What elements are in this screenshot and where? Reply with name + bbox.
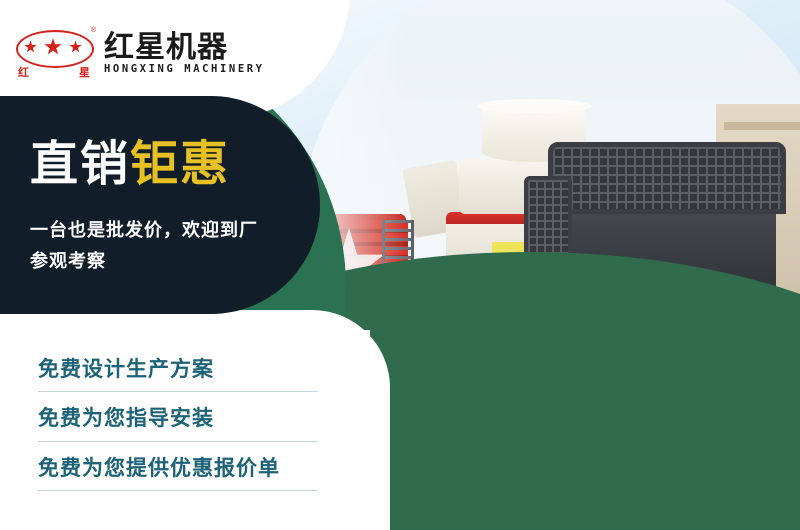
list-item[interactable]: 免费为您提供优惠报价单 [38,451,318,491]
logo-stars [24,36,82,58]
star-icon [24,41,37,54]
brand-logo[interactable]: ® 红 星 红星机器 HONGXING MACHINERY [16,28,265,80]
headline-highlight: 钜惠 [130,136,230,192]
star-icon [44,38,62,56]
subtitle-line-1: 一台也是批发价，欢迎到厂 [30,216,320,247]
brand-name-en: HONGXING MACHINERY [104,64,265,75]
logo-char-xing: 星 [79,64,90,80]
star-icon [69,41,82,54]
subtitle: 一台也是批发价，欢迎到厂 参观考察 [30,216,320,278]
logo-subchars: 红 星 [18,64,90,80]
brand-wordmark: 红星机器 HONGXING MACHINERY [104,33,265,75]
list-item[interactable]: 免费设计生产方案 [38,352,318,392]
brand-name-cn: 红星机器 [104,33,265,63]
platform-railing [548,142,786,214]
list-item[interactable]: 免费为您指导安装 [38,401,318,441]
hongxing-star-emblem-icon: ® 红 星 [16,28,94,80]
registered-mark: ® [91,27,96,34]
page-title: 直销钜惠 [30,140,230,188]
logo-char-hong: 红 [18,64,29,80]
promo-banner: ® 红 星 红星机器 HONGXING MACHINERY 直销钜惠 一台也是批… [0,0,800,530]
feature-list: 免费设计生产方案 免费为您指导安装 免费为您提供优惠报价单 [38,352,318,491]
subtitle-line-2: 参观考察 [30,247,320,278]
dark-message-panel-fill [0,96,110,314]
headline-primary: 直销 [30,136,130,192]
